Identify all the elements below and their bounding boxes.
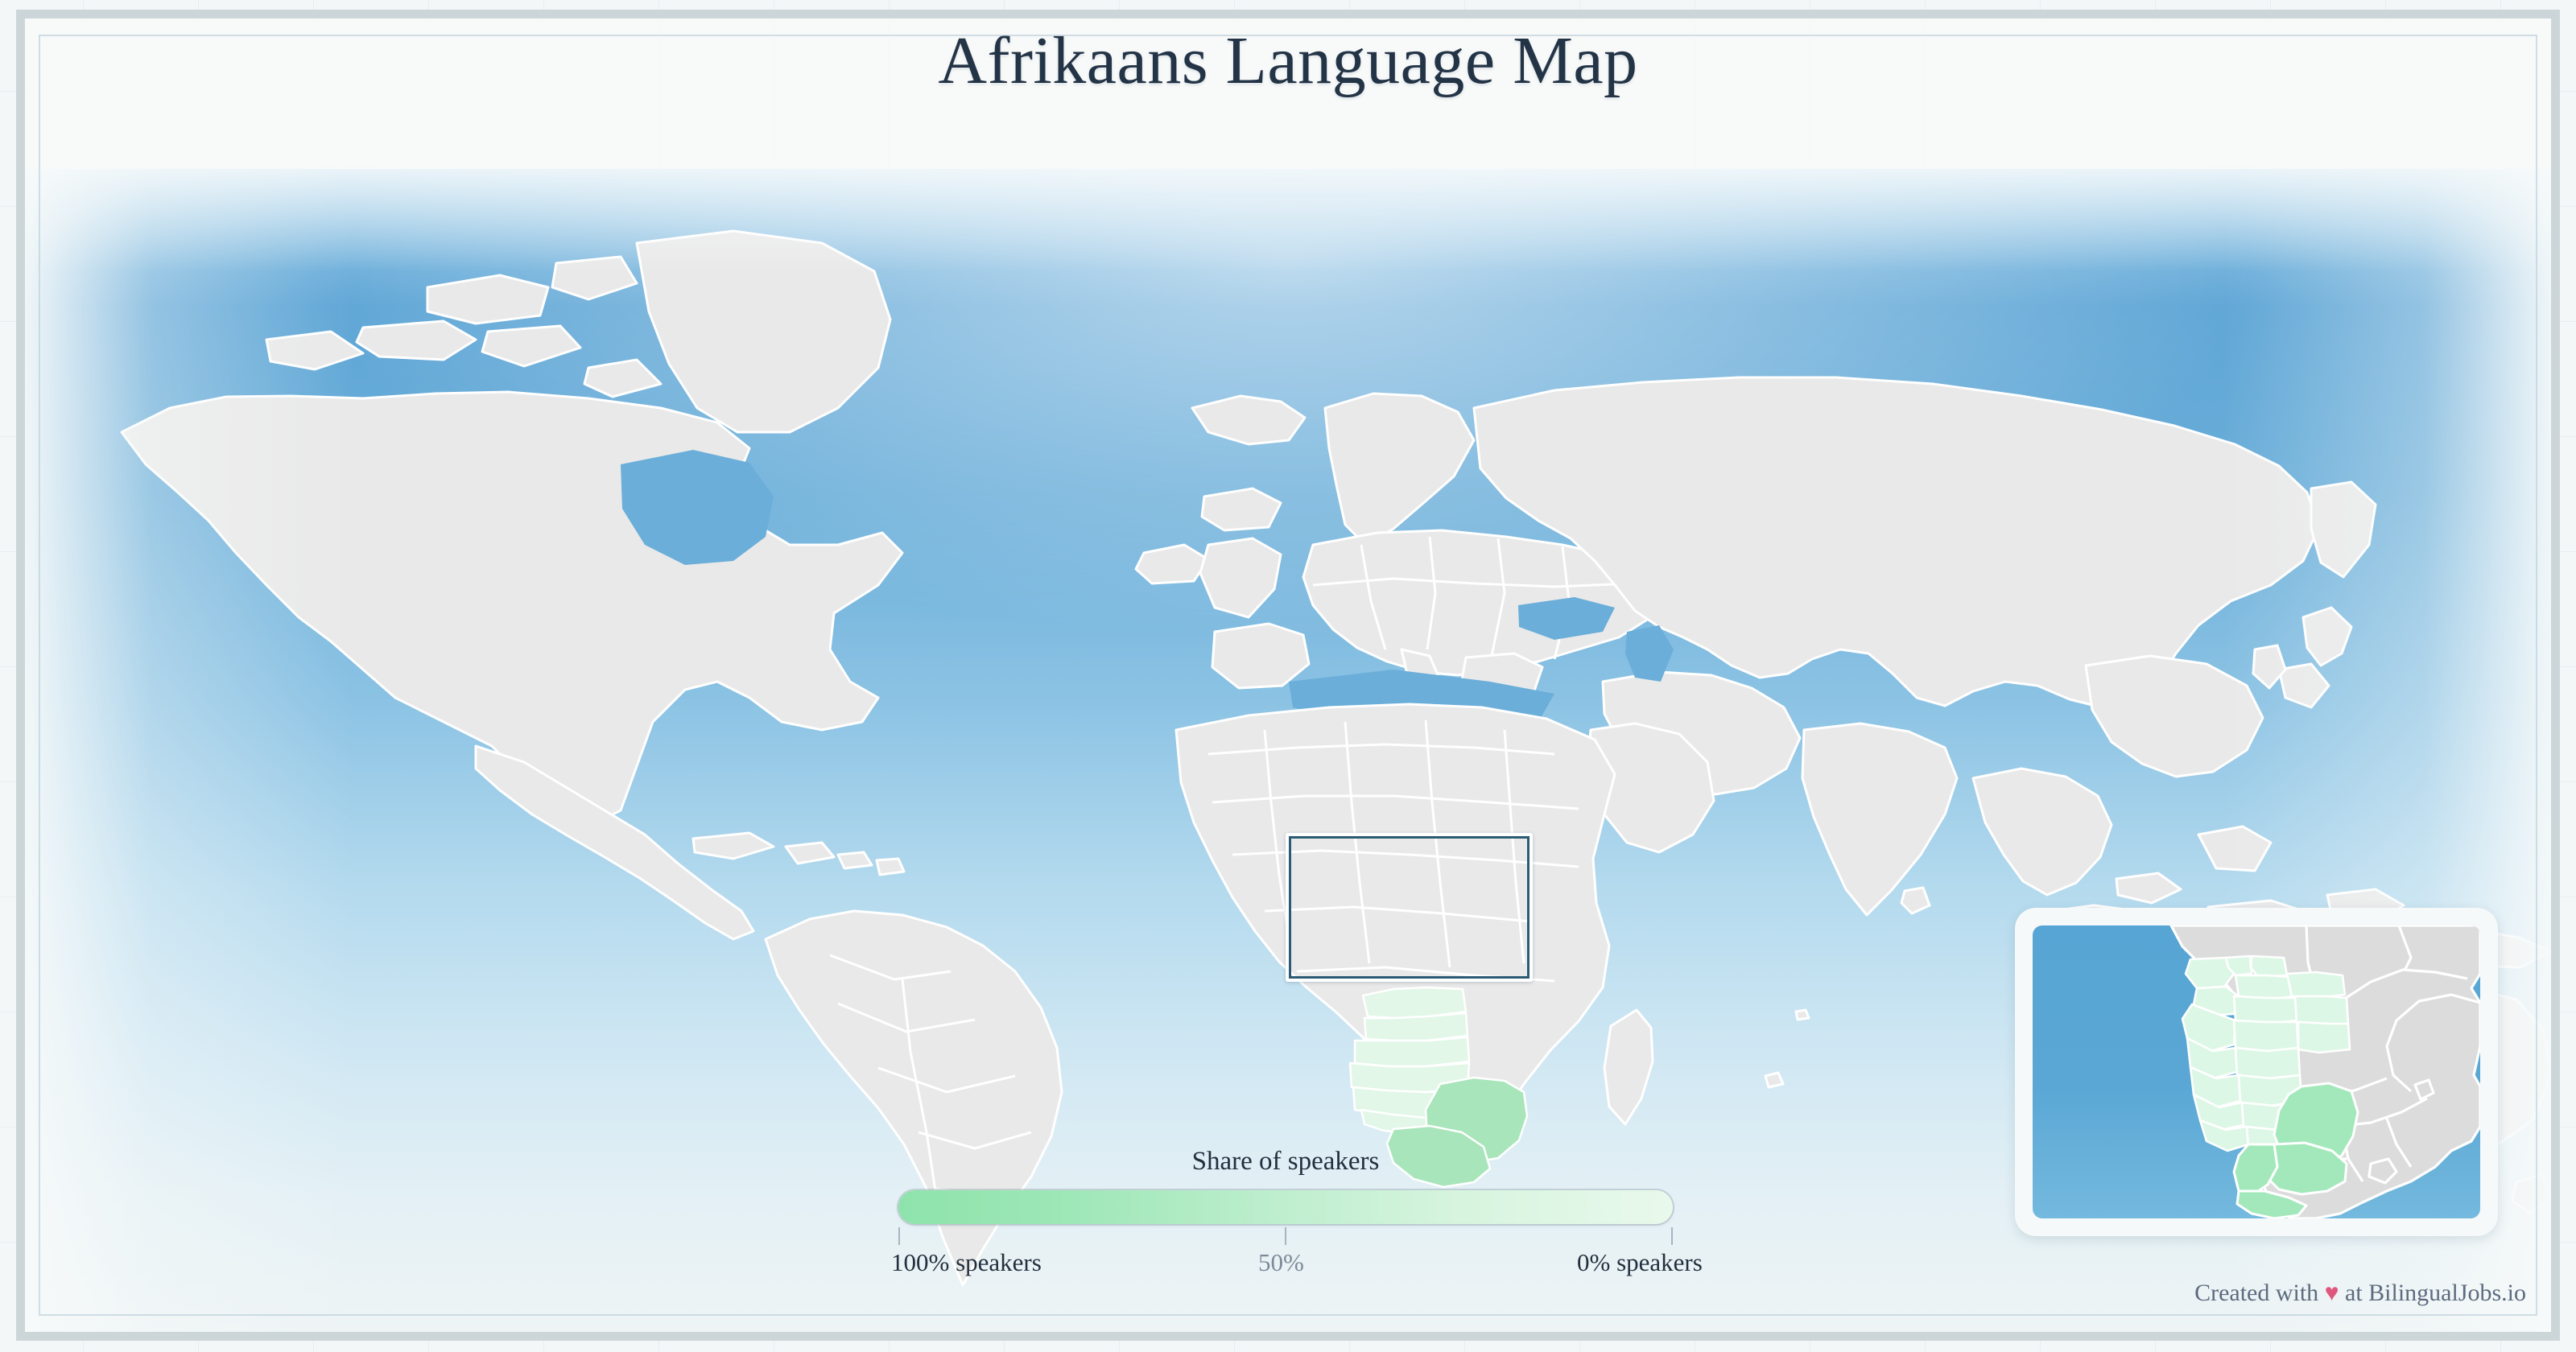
legend-tick-0 xyxy=(1671,1227,1673,1245)
inset-map-panel[interactable]: .iland { fill:#dcdcdc; stroke:#ffffff; s… xyxy=(2015,908,2498,1236)
legend-tick-50 xyxy=(1285,1227,1286,1245)
inset-map-svg: .iland { fill:#dcdcdc; stroke:#ffffff; s… xyxy=(2033,925,2480,1218)
inset-map[interactable]: .iland { fill:#dcdcdc; stroke:#ffffff; s… xyxy=(2033,925,2480,1218)
footer-credit[interactable]: Created with ♥ at BilingualJobs.io xyxy=(2194,1280,2526,1307)
footer-suffix: at BilingualJobs.io xyxy=(2339,1280,2527,1306)
legend-tick-100 xyxy=(898,1227,900,1245)
footer-prefix: Created with xyxy=(2194,1280,2325,1306)
heart-icon: ♥ xyxy=(2325,1280,2339,1306)
legend-ticks xyxy=(898,1224,1673,1248)
legend-label-min: 0% speakers xyxy=(1577,1248,1703,1277)
legend-label-mid: 50% xyxy=(1258,1248,1304,1277)
legend: Share of speakers 100% speakers 50% 0% s… xyxy=(898,1147,1673,1288)
legend-labels: 100% speakers 50% 0% speakers xyxy=(898,1248,1673,1288)
legend-label-max: 100% speakers xyxy=(891,1248,1042,1277)
page-title: Afrikaans Language Map xyxy=(0,27,2576,95)
legend-gradient-bar xyxy=(898,1190,1673,1224)
map-focus-selection-box[interactable] xyxy=(1286,833,1533,982)
map-page: .land { fill:#e9e9e9; stroke:#ffffff; st… xyxy=(0,0,2576,1352)
legend-title: Share of speakers xyxy=(898,1147,1673,1177)
